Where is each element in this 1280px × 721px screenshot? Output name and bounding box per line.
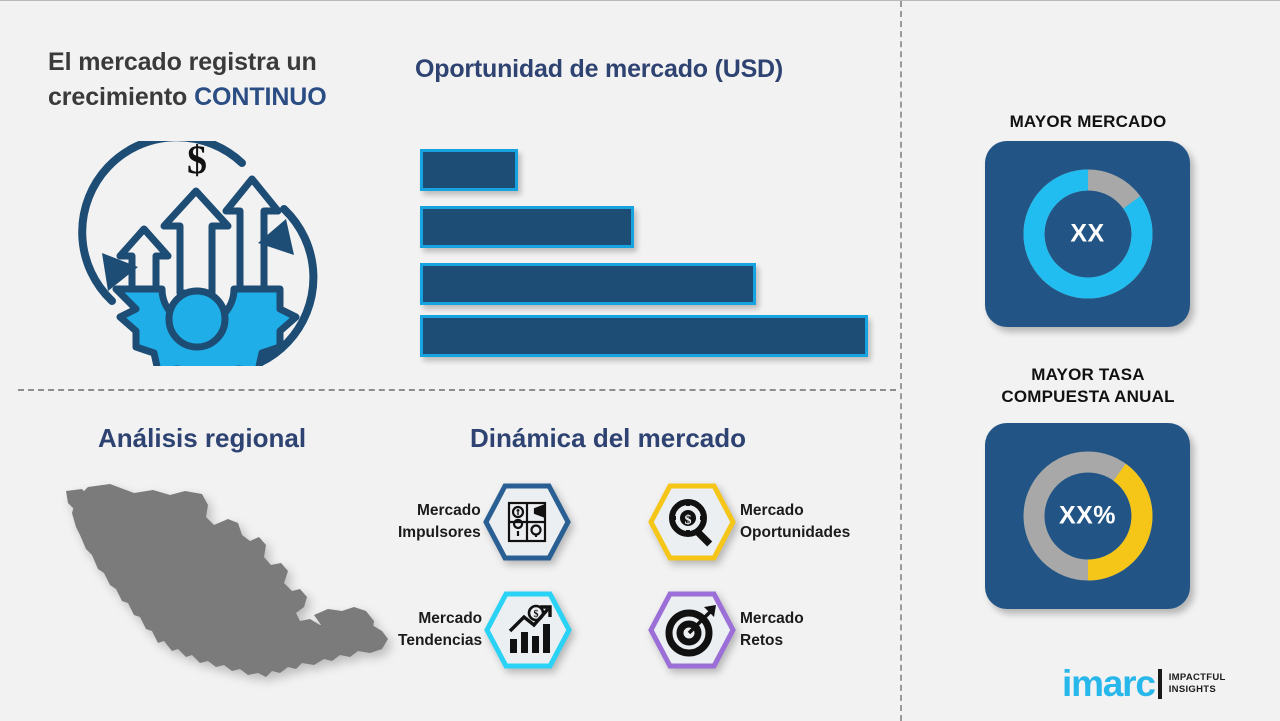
target-dart-icon	[648, 591, 736, 669]
bar-item-1	[420, 149, 518, 191]
highest-cagr-value: XX%	[985, 502, 1190, 531]
dynamics-item-challenges[interactable]: Mercado Retos	[648, 591, 804, 669]
dynamics-item-drivers-label: Mercado Impulsores	[398, 500, 481, 544]
growth-heading-line1: El mercado registra un	[48, 48, 317, 76]
puzzle-pieces-icon	[483, 483, 571, 561]
dynamics-item-trends-label: Mercado Tendencias	[398, 608, 482, 652]
growth-heading: El mercado registra un crecimiento CONTI…	[48, 45, 403, 114]
dynamics-heading: Dinámica del mercado	[470, 423, 870, 454]
dynamics-group: Mercado Impulsores	[398, 483, 898, 683]
dynamics-item-challenges-label: Mercado Retos	[740, 608, 804, 652]
imarc-wordmark: imarc	[1062, 665, 1155, 702]
svg-text:$: $	[685, 513, 692, 528]
growth-heading-accent: CONTINUO	[194, 83, 327, 111]
svg-text:$: $	[534, 609, 539, 620]
highest-cagr-title: MAYOR TASA COMPUESTA ANUAL	[968, 364, 1208, 408]
dynamics-item-opportunities[interactable]: $ Mercado Oportunidades	[648, 483, 850, 561]
regional-heading: Análisis regional	[98, 423, 398, 454]
growth-gear-arrows-icon: $	[72, 141, 322, 366]
dynamics-item-drivers[interactable]: Mercado Impulsores	[398, 483, 571, 561]
largest-market-value: XX	[985, 220, 1190, 249]
mexico-map	[52, 479, 392, 701]
horizontal-divider	[18, 389, 896, 391]
infographic-canvas: El mercado registra un crecimiento CONTI…	[0, 1, 1280, 720]
imarc-logo: imarc IMPACTFUL INSIGHTS	[1062, 661, 1262, 707]
logo-divider	[1158, 669, 1162, 699]
bar-growth-dollar-icon: $	[484, 591, 572, 669]
magnifier-dollar-icon: $	[648, 483, 736, 561]
dynamics-item-trends[interactable]: Mercado Tendencias $	[398, 591, 572, 669]
bar-item-3	[420, 263, 756, 305]
growth-heading-line2: crecimiento	[48, 83, 194, 111]
bar-item-4	[420, 315, 868, 357]
highest-cagr-donut-card: XX%	[985, 423, 1190, 609]
largest-market-donut-card: XX	[985, 141, 1190, 327]
dynamics-item-opportunities-label: Mercado Oportunidades	[740, 500, 850, 544]
dollar-symbol: $	[187, 141, 207, 182]
opportunity-bar-chart	[420, 149, 880, 359]
vertical-divider	[900, 1, 902, 721]
largest-market-title: MAYOR MERCADO	[968, 111, 1208, 133]
bar-item-2	[420, 206, 634, 248]
opportunity-heading: Oportunidad de mercado (USD)	[415, 55, 885, 84]
imarc-tagline: IMPACTFUL INSIGHTS	[1169, 672, 1226, 696]
